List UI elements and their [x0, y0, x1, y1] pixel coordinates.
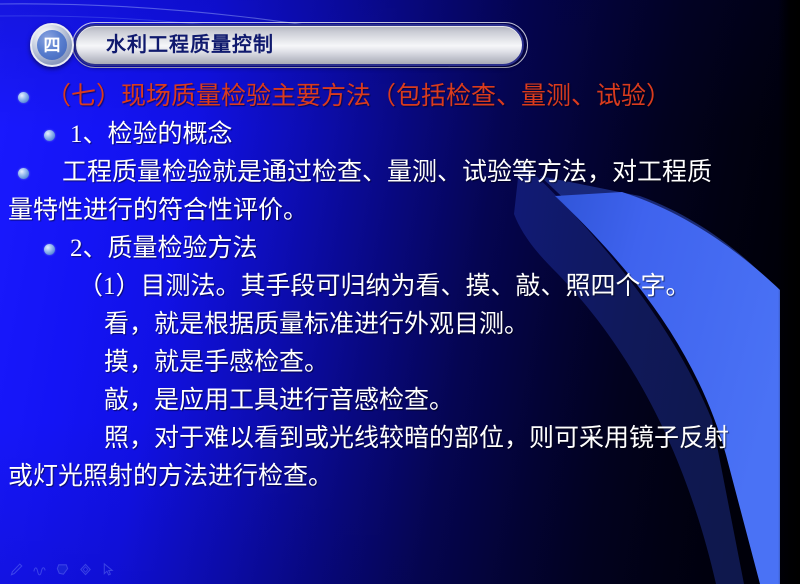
squiggle-icon[interactable] [31, 561, 48, 578]
body-line-text: 1、检验的概念 [70, 121, 233, 148]
body-line-2: 工程质量检验就是通过检查、量测、试验等方法，对工程质 [0, 154, 800, 192]
body-line-text: 工程质量检验就是通过检查、量测、试验等方法，对工程质 [62, 159, 712, 186]
body-line-9: 照，对于难以看到或光线较暗的部位，则可采用镜子反射 [0, 420, 800, 458]
body-line-5: （1）目测法。其手段可归纳为看、摸、敲、照四个字。 [0, 268, 800, 306]
body-line-text: 敲，是应用工具进行音感检查。 [104, 387, 454, 414]
body-line-heading: （七）现场质量检验主要方法（包括检查、量测、试验） [0, 78, 800, 116]
section-number-badge: 四 [30, 23, 74, 67]
body-line-3: 量特性进行的符合性评价。 [0, 192, 800, 230]
body-line-text: （七）现场质量检验主要方法（包括检查、量测、试验） [46, 83, 671, 110]
eraser-icon[interactable] [77, 561, 94, 578]
pen-icon[interactable] [8, 561, 25, 578]
body-line-1: 1、检验的概念 [0, 116, 800, 154]
bullet-marker [44, 130, 55, 141]
highlighter-icon[interactable] [54, 561, 71, 578]
slide-title-bar: 四 水利工程质量控制 [30, 24, 524, 66]
body-line-4: 2、质量检验方法 [0, 230, 800, 268]
body-line-text: 看，就是根据质量标准进行外观目测。 [104, 311, 529, 338]
page-title: 水利工程质量控制 [106, 24, 274, 66]
body-line-7: 摸，就是手感检查。 [0, 344, 800, 382]
body-line-text: 摸，就是手感检查。 [104, 349, 329, 376]
body-line-6: 看，就是根据质量标准进行外观目测。 [0, 306, 800, 344]
bullet-marker [44, 244, 55, 255]
body-line-8: 敲，是应用工具进行音感检查。 [0, 382, 800, 420]
body-line-text: 2、质量检验方法 [70, 235, 258, 262]
arrow-pointer-icon[interactable] [100, 561, 117, 578]
slide-body: （七）现场质量检验主要方法（包括检查、量测、试验）1、检验的概念工程质量检验就是… [0, 78, 800, 496]
body-line-text: 或灯光照射的方法进行检查。 [8, 463, 333, 490]
presentation-slide: 四 水利工程质量控制 （七）现场质量检验主要方法（包括检查、量测、试验）1、检验… [0, 0, 800, 584]
section-number-label: 四 [37, 30, 67, 60]
bullet-marker [18, 92, 29, 103]
body-line-text: 量特性进行的符合性评价。 [8, 197, 308, 224]
annotation-toolbar[interactable] [8, 561, 117, 578]
bullet-marker [18, 168, 29, 179]
body-line-text: 照，对于难以看到或光线较暗的部位，则可采用镜子反射 [104, 425, 729, 452]
body-line-text: （1）目测法。其手段可归纳为看、摸、敲、照四个字。 [78, 273, 691, 300]
body-line-10: 或灯光照射的方法进行检查。 [0, 458, 800, 496]
